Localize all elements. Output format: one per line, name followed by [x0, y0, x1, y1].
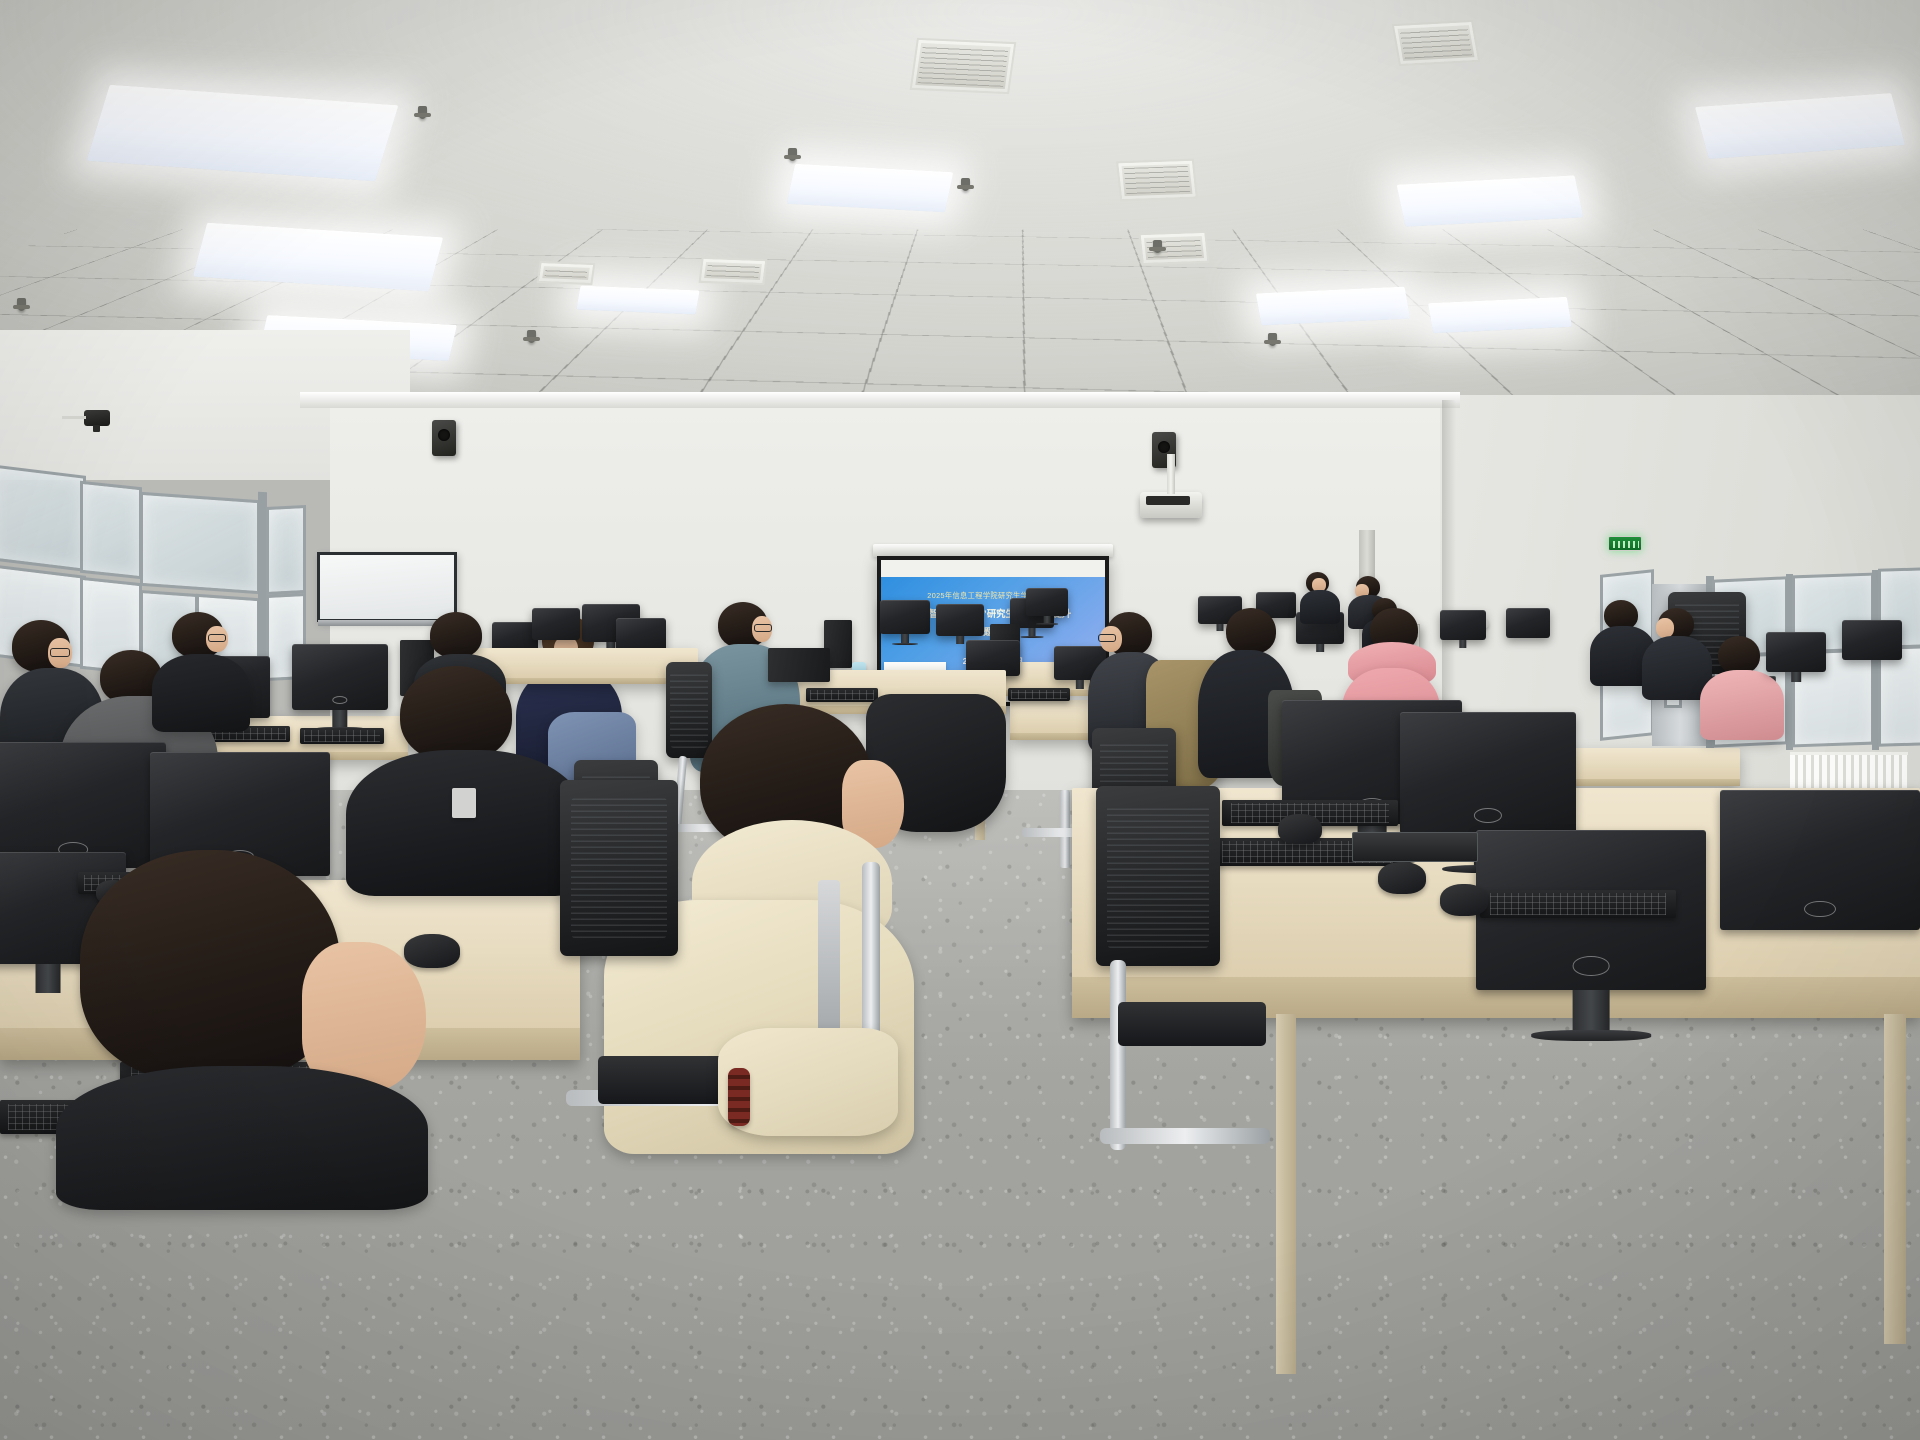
wall-soffit: [300, 392, 1460, 408]
dell-monitor: [1400, 712, 1576, 834]
chair-frame: [1100, 1128, 1270, 1144]
chair-seat: [1118, 1002, 1266, 1046]
fire-sprinkler: [418, 106, 427, 119]
hvac-vent: [537, 261, 596, 285]
monitor-panel: [1026, 588, 1068, 616]
eyeglasses: [1098, 634, 1116, 642]
dell-monitor: [532, 608, 580, 640]
monitor-panel: [1842, 620, 1902, 660]
beaded-bracelet: [728, 1068, 750, 1126]
mouse[interactable]: [1278, 814, 1322, 844]
ceiling-light-panel: [787, 164, 954, 212]
head: [400, 666, 512, 762]
hvac-vent: [1392, 20, 1481, 66]
monitor-panel: [616, 618, 666, 652]
desk-leg: [1884, 1014, 1906, 1344]
dell-logo: [1474, 808, 1502, 823]
glass-pane-frosted: [1878, 645, 1920, 746]
security-camera: [84, 410, 110, 426]
dell-monitor: [1720, 790, 1920, 930]
chair-backrest: [560, 780, 678, 956]
monitor-neck: [956, 636, 964, 644]
fire-sprinkler: [527, 330, 536, 343]
fire-sprinkler: [1153, 240, 1162, 253]
hvac-vent: [910, 38, 1017, 94]
head: [1718, 636, 1760, 674]
desk-power-port-module[interactable]: [1352, 832, 1478, 862]
jacket-logo: [452, 788, 476, 818]
seated-student: [56, 850, 428, 1210]
eyeglasses: [208, 634, 226, 642]
dell-monitor: [1440, 610, 1486, 640]
hvac-vent: [1116, 159, 1198, 202]
monitor-neck: [1459, 640, 1466, 648]
office-chair[interactable]: [1096, 786, 1220, 966]
seated-student: [152, 612, 250, 732]
fire-sprinkler: [17, 298, 26, 311]
monitor-neck: [901, 634, 909, 643]
desk-leg: [1276, 1014, 1296, 1374]
head: [80, 850, 340, 1080]
monitor-panel: [1766, 632, 1826, 672]
hvac-vent: [699, 257, 768, 285]
ceiling-light-panel: [1428, 297, 1572, 333]
head: [1226, 608, 1276, 654]
monitor-base: [1021, 636, 1044, 638]
monitor-panel: [880, 600, 930, 634]
dell-logo: [1573, 956, 1610, 975]
dell-monitor: [880, 600, 930, 634]
monitor-neck: [1316, 644, 1324, 652]
mouse[interactable]: [1440, 884, 1488, 916]
wall-speaker: [432, 420, 456, 456]
laptop: [768, 648, 830, 682]
dell-monitor: [1766, 632, 1826, 672]
keyboard[interactable]: [1008, 688, 1070, 701]
glass-pane: [140, 492, 260, 594]
ceiling-projector: [1140, 492, 1202, 518]
office-chair[interactable]: [560, 780, 678, 956]
torso: [1700, 670, 1784, 740]
dell-monitor: [1842, 620, 1902, 660]
monitor-base: [1036, 623, 1058, 625]
torso: [1300, 590, 1340, 624]
dell-monitor: [1026, 588, 1068, 616]
dell-logo: [1804, 901, 1836, 918]
dell-monitor: [616, 618, 666, 652]
keyboard[interactable]: [1480, 890, 1676, 918]
seated-student: [1300, 572, 1342, 624]
monitor-neck: [1791, 672, 1801, 682]
monitor-panel: [532, 608, 580, 640]
lab-classroom-scene: 2025年信息工程学院研究生学术活动月 “数智·网络·通信”研究生综合素养提升 …: [0, 0, 1920, 1440]
glass-pane: [0, 464, 86, 572]
fire-sprinkler: [1268, 333, 1277, 346]
dell-monitor: [1506, 608, 1550, 638]
monitor-panel: [1506, 608, 1550, 638]
torso: [152, 654, 250, 732]
chair-backrest: [1096, 786, 1220, 966]
dell-monitor: [936, 604, 984, 636]
mouse[interactable]: [1378, 862, 1426, 894]
monitor-neck: [1076, 680, 1084, 689]
fire-sprinkler: [788, 148, 797, 161]
chair-frame: [1110, 960, 1126, 1150]
monitor-panel: [1440, 610, 1486, 640]
glass-pane: [80, 481, 142, 580]
ceiling-light-panel: [1256, 287, 1410, 326]
fire-sprinkler: [961, 178, 970, 191]
monitor-base: [1531, 1030, 1651, 1041]
head: [430, 612, 482, 658]
ceiling-light-panel: [576, 285, 699, 314]
monitor-neck: [1573, 990, 1610, 1032]
glass-pane: [266, 505, 306, 595]
face: [1656, 618, 1674, 638]
torso: [56, 1066, 428, 1210]
eyeglasses: [754, 624, 772, 632]
keyboard[interactable]: [806, 688, 878, 702]
monitor-panel: [936, 604, 984, 636]
emergency-exit-sign: [1608, 536, 1642, 551]
